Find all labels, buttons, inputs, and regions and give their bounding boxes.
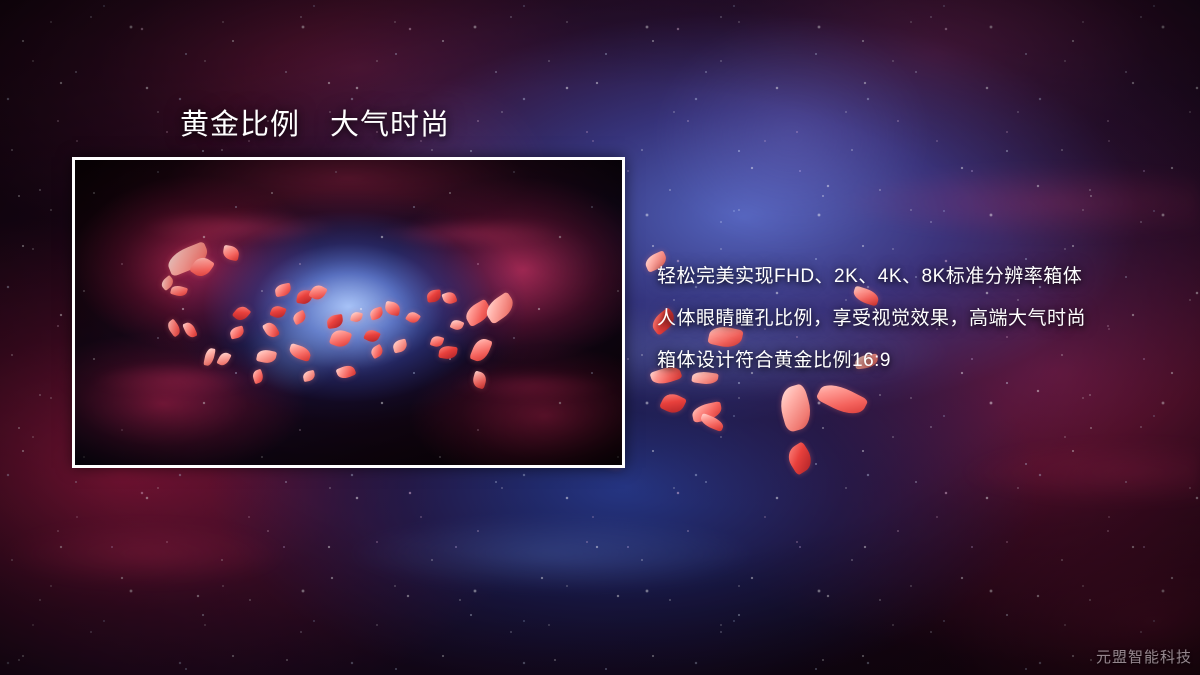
petal-decoration — [363, 328, 381, 345]
petal-decoration — [469, 336, 493, 364]
petal-decoration — [170, 284, 188, 298]
petal-decoration — [691, 401, 724, 423]
petal-decoration — [775, 383, 815, 433]
body-line-3: 箱体设计符合黄金比例16:9 — [657, 340, 1187, 382]
petal-decoration — [462, 299, 494, 328]
petal-decoration — [335, 363, 356, 381]
petal-decoration — [350, 311, 363, 323]
petal-decoration — [182, 321, 198, 340]
petal-decoration — [302, 370, 316, 382]
petal-decoration — [815, 378, 868, 420]
petal-decoration — [288, 343, 313, 362]
petal-decoration — [392, 338, 408, 353]
petal-decoration — [232, 304, 252, 324]
framed-image-starfield — [75, 160, 622, 465]
petal-decoration — [369, 306, 385, 320]
petal-decoration — [326, 314, 344, 329]
petal-decoration — [405, 310, 421, 326]
petal-decoration — [329, 327, 353, 349]
framed-image-vignette — [75, 160, 622, 465]
petal-decoration — [262, 320, 280, 340]
petal-decoration — [308, 283, 328, 303]
body-line-2: 人体眼睛瞳孔比例，享受视觉效果，高端大气时尚 — [657, 298, 1187, 340]
petal-decoration — [203, 347, 216, 366]
watermark: 元盟智能科技 — [1096, 646, 1192, 667]
petal-decoration — [296, 289, 313, 305]
petal-decoration — [441, 290, 457, 306]
body-copy: 轻松完美实现FHD、2K、4K、8K标准分辨率箱体 人体眼睛瞳孔比例，享受视觉效… — [657, 256, 1187, 382]
petal-decoration — [784, 441, 817, 476]
framed-image-nebula — [75, 160, 622, 465]
petal-decoration — [159, 275, 175, 291]
petal-decoration — [291, 310, 308, 326]
petal-decoration — [274, 283, 292, 298]
petal-decoration — [384, 301, 401, 316]
petal-decoration — [269, 304, 286, 320]
petal-decoration — [438, 345, 458, 360]
slide-title: 黄金比例 大气时尚 — [180, 101, 450, 143]
petal-decoration — [426, 289, 441, 302]
body-line-1: 轻松完美实现FHD、2K、4K、8K标准分辨率箱体 — [657, 256, 1187, 298]
petal-decoration — [659, 390, 687, 417]
petal-decoration — [164, 241, 211, 277]
petal-decoration — [229, 325, 245, 339]
petal-decoration — [699, 413, 725, 432]
petal-decoration — [222, 245, 240, 262]
petal-decoration — [189, 254, 215, 281]
petal-decoration — [449, 318, 464, 332]
presentation-slide: 黄金比例 大气时尚 轻松完美实现FHD、2K、4K、8K标准分辨率箱体 人体眼睛… — [0, 0, 1200, 675]
framed-image[interactable] — [72, 157, 625, 468]
petal-decoration — [256, 348, 277, 365]
petal-decoration — [165, 319, 182, 338]
petal-decoration — [369, 344, 385, 359]
petal-decoration — [251, 369, 265, 384]
petal-decoration — [482, 291, 518, 324]
petal-decoration — [430, 334, 445, 348]
petal-decoration — [216, 350, 231, 367]
framed-image-wisps — [75, 160, 622, 465]
petal-decoration — [471, 371, 488, 390]
